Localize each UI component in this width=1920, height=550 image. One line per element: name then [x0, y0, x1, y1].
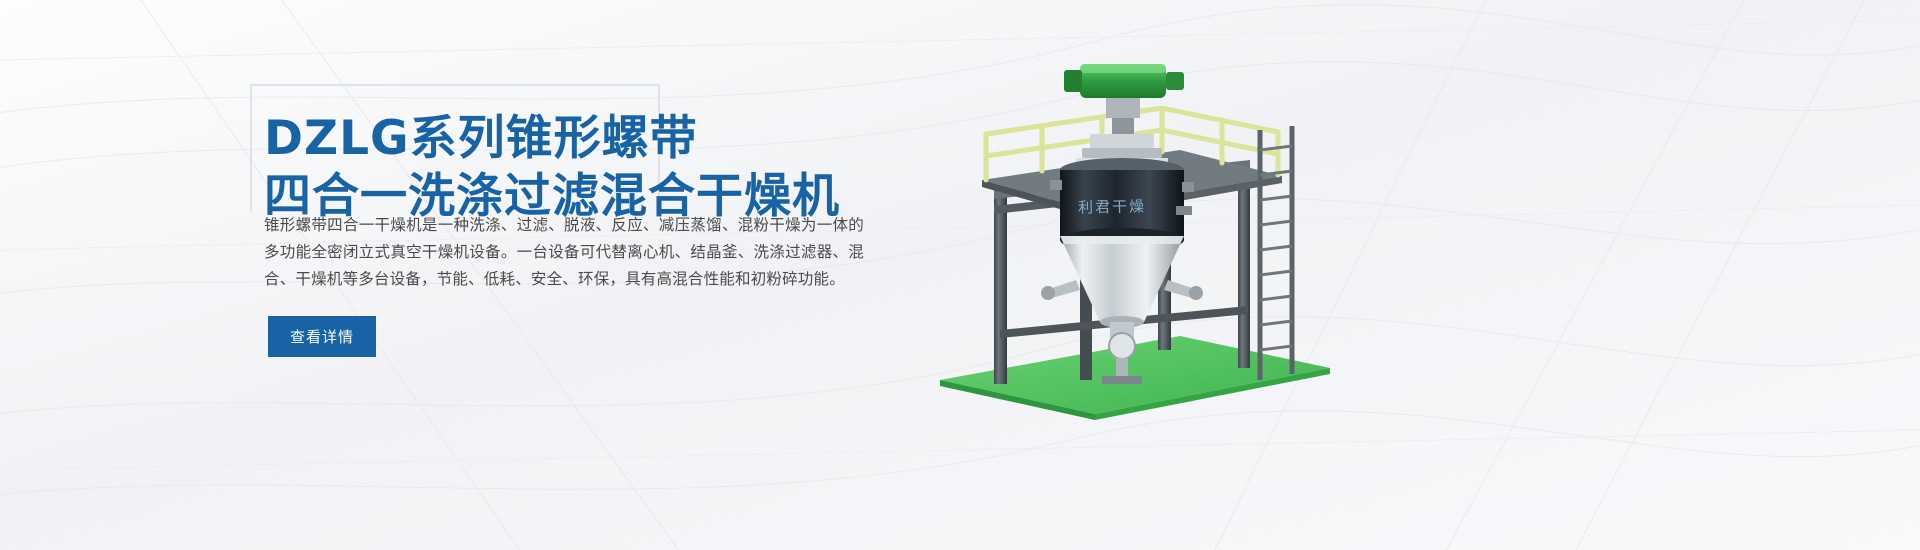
view-details-button[interactable]: 查看详情 [268, 316, 376, 357]
hero-copy: DZLG系列锥形螺带 四合一洗涤过滤混合干燥机 锥形螺带四合一干燥机是一种洗涤、… [250, 84, 910, 226]
page-title: DZLG系列锥形螺带 四合一洗涤过滤混合干燥机 [250, 84, 910, 226]
drive-motor [1064, 64, 1184, 134]
product-description: 锥形螺带四合一干燥机是一种洗涤、过滤、脱液、反应、减压蒸馏、混粉干燥为一体的多功… [264, 212, 864, 293]
product-hero-banner: DZLG系列锥形螺带 四合一洗涤过滤混合干燥机 锥形螺带四合一干燥机是一种洗涤、… [0, 0, 1920, 550]
image-watermark: 利君干燥 [1078, 195, 1146, 217]
product-illustration [930, 30, 1350, 420]
title-line-1: DZLG系列锥形螺带 [264, 110, 910, 168]
